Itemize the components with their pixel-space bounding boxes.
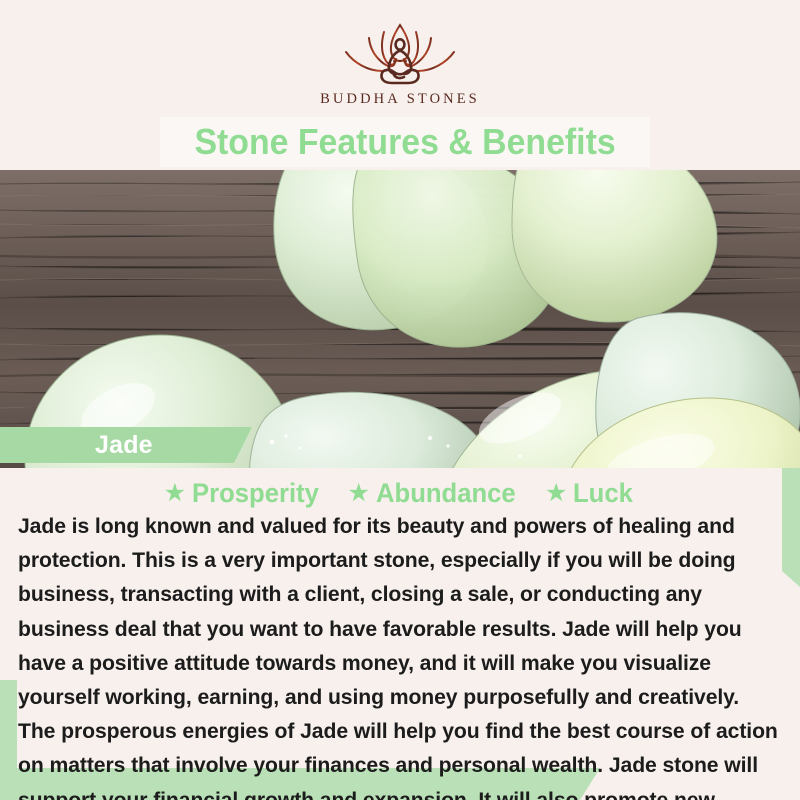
page-title-banner: Stone Features & Benefits [160, 117, 650, 167]
star-icon: ★ [545, 481, 567, 506]
brand-name: BUDDHA STONES [320, 91, 480, 108]
benefit-label: Prosperity [192, 478, 319, 509]
benefit-item: ★ Prosperity [164, 478, 326, 509]
infographic-page: BUDDHA STONES Stone Features & Benefits [0, 0, 800, 800]
brand-header: BUDDHA STONES [0, 0, 800, 118]
benefit-item: ★ Abundance [348, 478, 523, 509]
stone-description-text: Jade is long known and valued for its be… [18, 509, 778, 800]
stone-photo-illustration [0, 170, 800, 468]
benefit-label: Luck [573, 478, 633, 509]
benefit-label: Abundance [376, 478, 516, 509]
star-icon: ★ [164, 481, 186, 506]
stone-name-badge: Jade [0, 427, 252, 463]
stone-photo [0, 170, 800, 468]
benefit-item: ★ Luck [545, 478, 636, 509]
lotus-meditation-icon [334, 21, 466, 87]
benefits-row: ★ Prosperity ★ Abundance ★ Luck [0, 478, 800, 509]
stone-description: Jade is long known and valued for its be… [18, 509, 790, 800]
stone-name-label: Jade [95, 431, 153, 460]
page-title: Stone Features & Benefits [194, 121, 615, 163]
star-icon: ★ [348, 481, 370, 506]
brand-logo: BUDDHA STONES [320, 21, 480, 108]
